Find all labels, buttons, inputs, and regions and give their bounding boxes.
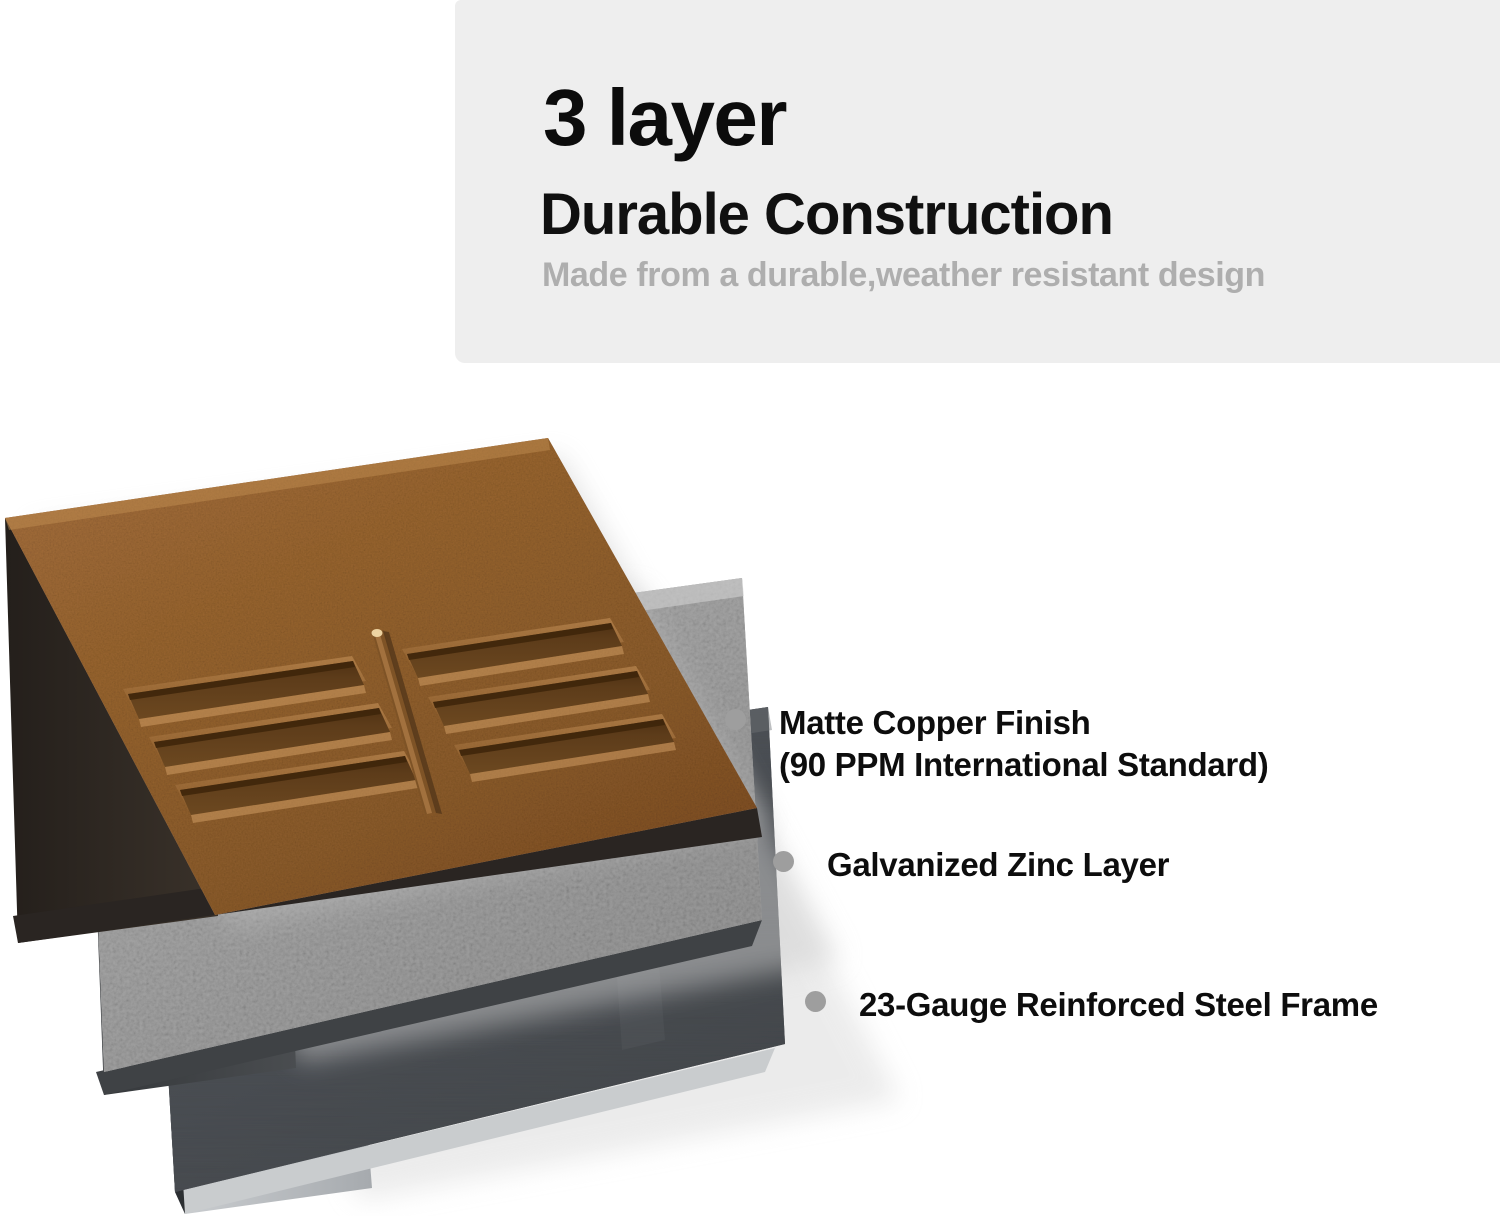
bullet-dot-icon — [773, 851, 794, 872]
callout-galvanized-zinc-layer: Galvanized Zinc Layer — [773, 844, 1169, 886]
callout-label: Galvanized Zinc Layer — [827, 844, 1169, 886]
exploded-layer-stack — [0, 400, 900, 1216]
header-panel: 3 layer Durable Construction Made from a… — [455, 0, 1500, 363]
page-subtitle: Durable Construction — [540, 186, 1113, 244]
callout-label: 23-Gauge Reinforced Steel Frame — [859, 984, 1378, 1026]
infographic-canvas: 3 layer Durable Construction Made from a… — [0, 0, 1500, 1216]
page-title: 3 layer — [543, 78, 786, 158]
callout-matte-copper-finish: Matte Copper Finish (90 PPM Internationa… — [725, 702, 1268, 786]
callout-label: Matte Copper Finish (90 PPM Internationa… — [779, 702, 1268, 786]
bullet-dot-icon — [725, 709, 746, 730]
callout-reinforced-steel-frame: 23-Gauge Reinforced Steel Frame — [805, 984, 1378, 1026]
bullet-dot-icon — [805, 991, 826, 1012]
page-tagline: Made from a durable,weather resistant de… — [542, 258, 1265, 292]
